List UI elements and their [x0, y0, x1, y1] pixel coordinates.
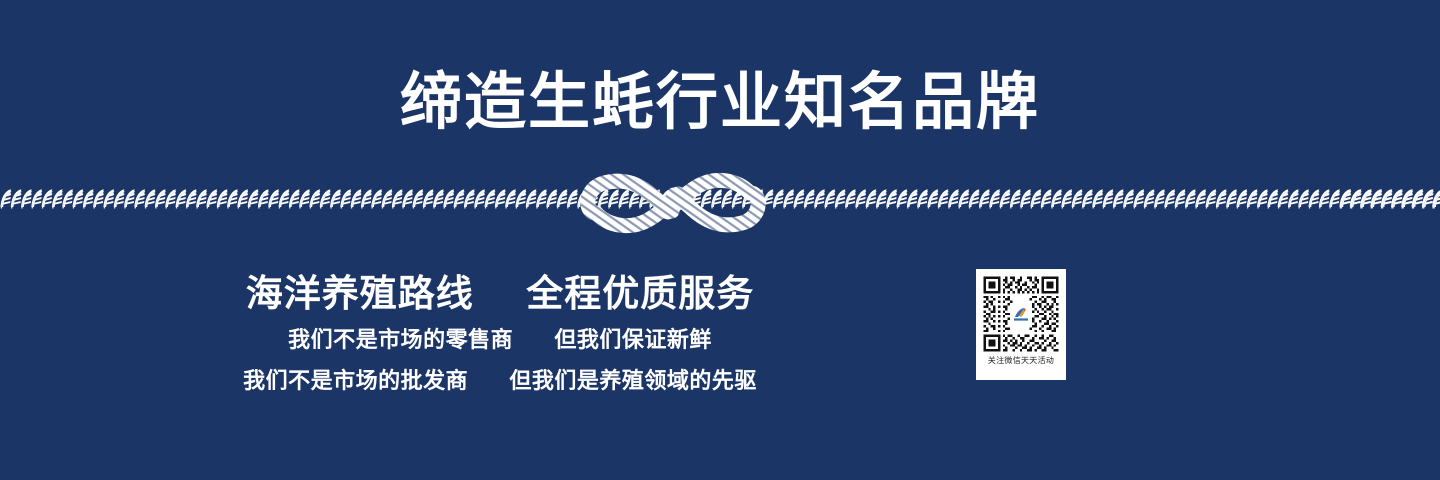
tagline-first: 我们不是市场的零售商 但我们保证新鲜 — [0, 322, 1000, 354]
promo-banner: 缔造生蚝行业知名品牌 — [0, 0, 1440, 480]
subheading: 海洋养殖路线 全程优质服务 — [0, 263, 1000, 317]
qr-code-icon[interactable] — [981, 274, 1061, 354]
rope-divider — [0, 186, 1440, 216]
tagline-second: 我们不是市场的批发商 但我们是养殖领域的先驱 — [0, 363, 1000, 395]
page-title: 缔造生蚝行业知名品牌 — [0, 70, 1440, 135]
brand-logo-icon — [1010, 303, 1032, 325]
qr-panel[interactable]: 关注微信天天活动 — [976, 269, 1066, 380]
tagline-first-left: 我们不是市场的零售商 — [288, 327, 513, 352]
tagline-first-right: 但我们保证新鲜 — [554, 327, 712, 352]
rope-knot-icon — [578, 164, 768, 242]
tagline-second-right: 但我们是养殖领域的先驱 — [509, 368, 757, 393]
tagline-second-left: 我们不是市场的批发商 — [243, 368, 468, 393]
subheading-right: 全程优质服务 — [526, 273, 754, 314]
qr-caption: 关注微信天天活动 — [988, 357, 1054, 365]
subheading-left: 海洋养殖路线 — [246, 273, 474, 314]
